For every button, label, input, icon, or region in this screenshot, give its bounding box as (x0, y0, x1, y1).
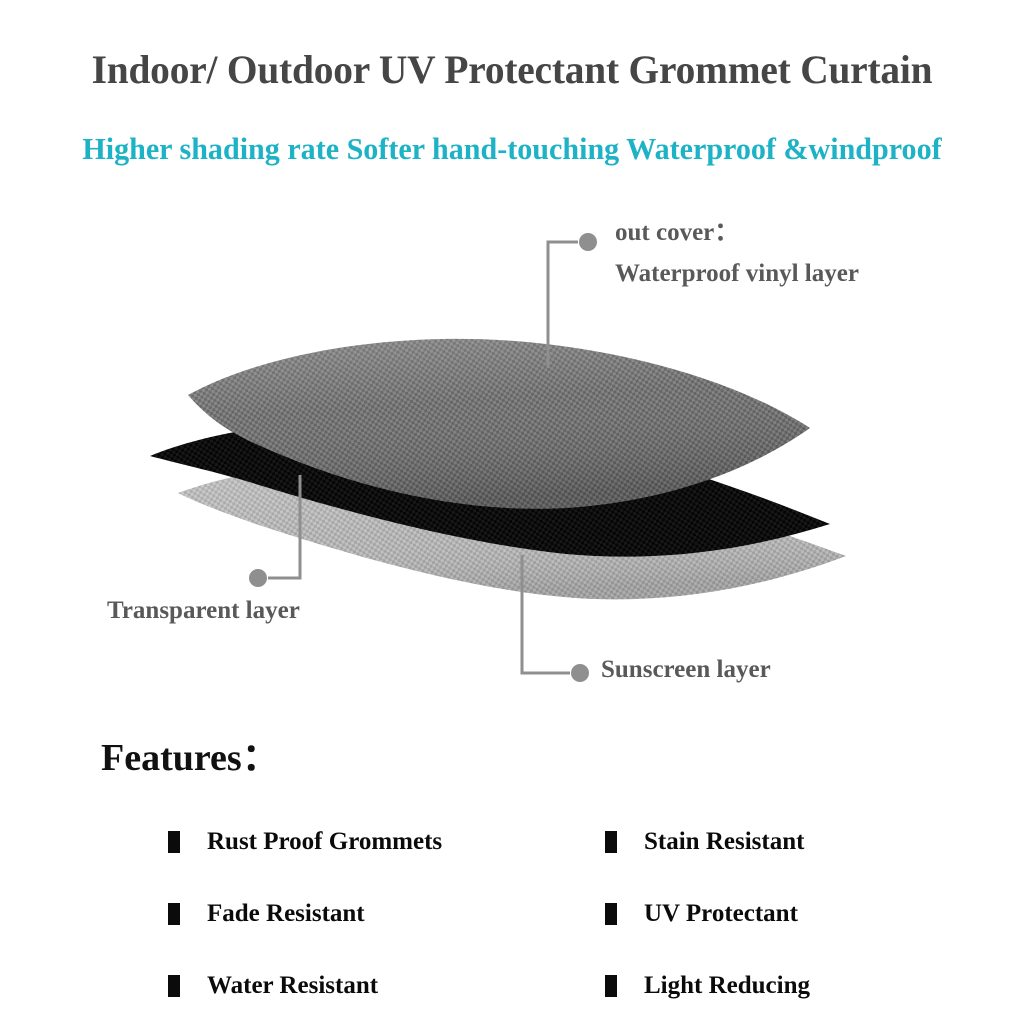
product-infographic: Indoor/ Outdoor UV Protectant Grommet Cu… (0, 0, 1024, 1024)
callout-out-cover: out cover： Waterproof vinyl layer (615, 212, 859, 294)
square-bullet-icon (605, 975, 617, 997)
feature-item: Fade Resistant (168, 878, 442, 950)
connector-dot-transparent (249, 569, 267, 587)
page-subtitle: Higher shading rate Softer hand-touching… (15, 128, 1008, 170)
fabric-layer-diagram (0, 190, 1024, 710)
feature-label: Stain Resistant (644, 828, 804, 856)
feature-label: Fade Resistant (207, 900, 365, 928)
features-column-right: Stain Resistant UV Protectant Light Redu… (605, 806, 810, 1022)
square-bullet-icon (605, 903, 617, 925)
callout-transparent-layer: Transparent layer (107, 597, 300, 625)
callout-sunscreen-layer: Sunscreen layer (601, 656, 771, 684)
callout-out-cover-line2: Waterproof vinyl layer (615, 253, 859, 294)
connector-dot-out-cover (579, 233, 597, 251)
square-bullet-icon (168, 975, 180, 997)
square-bullet-icon (605, 831, 617, 853)
page-title: Indoor/ Outdoor UV Protectant Grommet Cu… (8, 44, 1017, 96)
feature-label: Light Reducing (644, 972, 810, 1000)
square-bullet-icon (168, 831, 180, 853)
features-column-left: Rust Proof Grommets Fade Resistant Water… (168, 806, 442, 1022)
feature-item: Water Resistant (168, 950, 442, 1022)
feature-item: Light Reducing (605, 950, 810, 1022)
features-heading: Features： (101, 726, 280, 781)
feature-item: Rust Proof Grommets (168, 806, 442, 878)
connector-dot-sunscreen (571, 664, 589, 682)
callout-out-cover-line1: out cover： (615, 212, 859, 253)
feature-item: Stain Resistant (605, 806, 810, 878)
feature-label: Rust Proof Grommets (207, 828, 442, 856)
square-bullet-icon (168, 903, 180, 925)
feature-label: UV Protectant (644, 900, 798, 928)
feature-item: UV Protectant (605, 878, 810, 950)
feature-label: Water Resistant (207, 972, 378, 1000)
